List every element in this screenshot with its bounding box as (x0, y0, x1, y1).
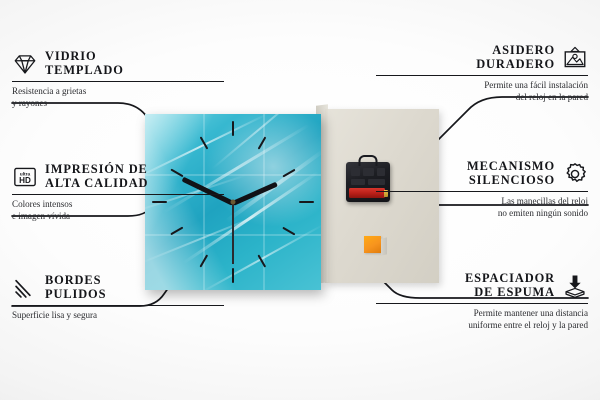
feature-title-line2: ALTA CALIDAD (45, 177, 148, 191)
feature-title-line2: PULIDOS (45, 288, 106, 302)
divider (12, 81, 224, 83)
feature-title-line1: MECANISMO (467, 160, 555, 174)
feature-subtitle: Las manecillas del reloj no emiten ningú… (376, 195, 588, 219)
feature-subtitle: Resistencia a grietas y rayones (12, 85, 224, 109)
divider (12, 194, 224, 196)
svg-text:HD: HD (19, 176, 31, 185)
feature-subtitle: Permite mantener una distancia uniforme … (376, 307, 588, 331)
feature-title-line1: ESPACIADOR (465, 272, 555, 286)
feature-subtitle: Colores intensos e imagen vívida (12, 198, 224, 222)
divider (376, 191, 588, 193)
feature-title-line2: TEMPLADO (45, 64, 124, 78)
subtitle-line2: no emiten ningún sonido (498, 208, 588, 218)
subtitle-line2: y rayones (12, 98, 47, 108)
divider (376, 75, 588, 77)
feature-mecanismo-silencioso: MECANISMO SILENCIOSO Las manecillas del … (376, 160, 588, 220)
second-hand (232, 202, 234, 264)
subtitle-line1: Permite mantener una distancia (474, 308, 588, 318)
feature-asidero-duradero: ASIDERO DURADERO Permite una fácil insta… (376, 44, 588, 104)
clock-center-pin (231, 200, 236, 205)
feature-vidrio-templado: VIDRIO TEMPLADO Resistencia a grietas y … (12, 50, 224, 110)
feature-title-line1: IMPRESIÓN DE (45, 163, 148, 177)
feature-title-line2: SILENCIOSO (469, 174, 555, 188)
ultra-hd-icon: ultra HD (12, 164, 38, 190)
hour-mark (232, 121, 234, 136)
subtitle-line1: Colores intensos (12, 199, 72, 209)
feature-title-line2: DURADERO (476, 58, 555, 72)
subtitle-line1: Resistencia a grietas (12, 86, 86, 96)
feature-bordes-pulidos: BORDES PULIDOS Superficie lisa y segura (12, 274, 224, 321)
hour-mark (299, 201, 314, 203)
gear-icon (562, 161, 588, 187)
movement-detail (351, 168, 360, 176)
picture-hanger-icon (562, 45, 588, 71)
subtitle-line1: Superficie lisa y segura (12, 310, 97, 320)
feature-subtitle: Permite una fácil instalación del reloj … (376, 79, 588, 103)
subtitle-line1: Permite una fácil instalación (484, 80, 588, 90)
feature-title-line1: ASIDERO (492, 44, 555, 58)
polished-edges-icon (12, 275, 38, 301)
feature-title-line1: BORDES (45, 274, 101, 288)
movement-detail (363, 168, 374, 176)
subtitle-line2: uniforme entre el reloj y la pared (468, 320, 588, 330)
hanger-hook-icon (359, 155, 378, 166)
movement-detail (351, 179, 365, 185)
diamond-icon (12, 51, 38, 77)
divider (376, 303, 588, 305)
feature-title-line1: VIDRIO (45, 50, 97, 64)
subtitle-line1: Las manecillas del reloj (501, 196, 588, 206)
subtitle-line2: e imagen vívida (12, 211, 70, 221)
infographic-canvas: VIDRIO TEMPLADO Resistencia a grietas y … (0, 0, 600, 400)
feature-impresion-alta-calidad: ultra HD IMPRESIÓN DE ALTA CALIDAD Color… (12, 163, 224, 223)
feature-title-line2: DE ESPUMA (474, 286, 555, 300)
foam-spacer-icon (562, 273, 588, 299)
feature-espaciador-espuma: ESPACIADOR DE ESPUMA Permite mantener un… (376, 272, 588, 332)
divider (12, 305, 224, 307)
hour-mark (232, 268, 234, 283)
feature-subtitle: Superficie lisa y segura (12, 309, 224, 321)
foam-spacer-part (364, 236, 381, 253)
subtitle-line2: del reloj en la pared (516, 92, 588, 102)
